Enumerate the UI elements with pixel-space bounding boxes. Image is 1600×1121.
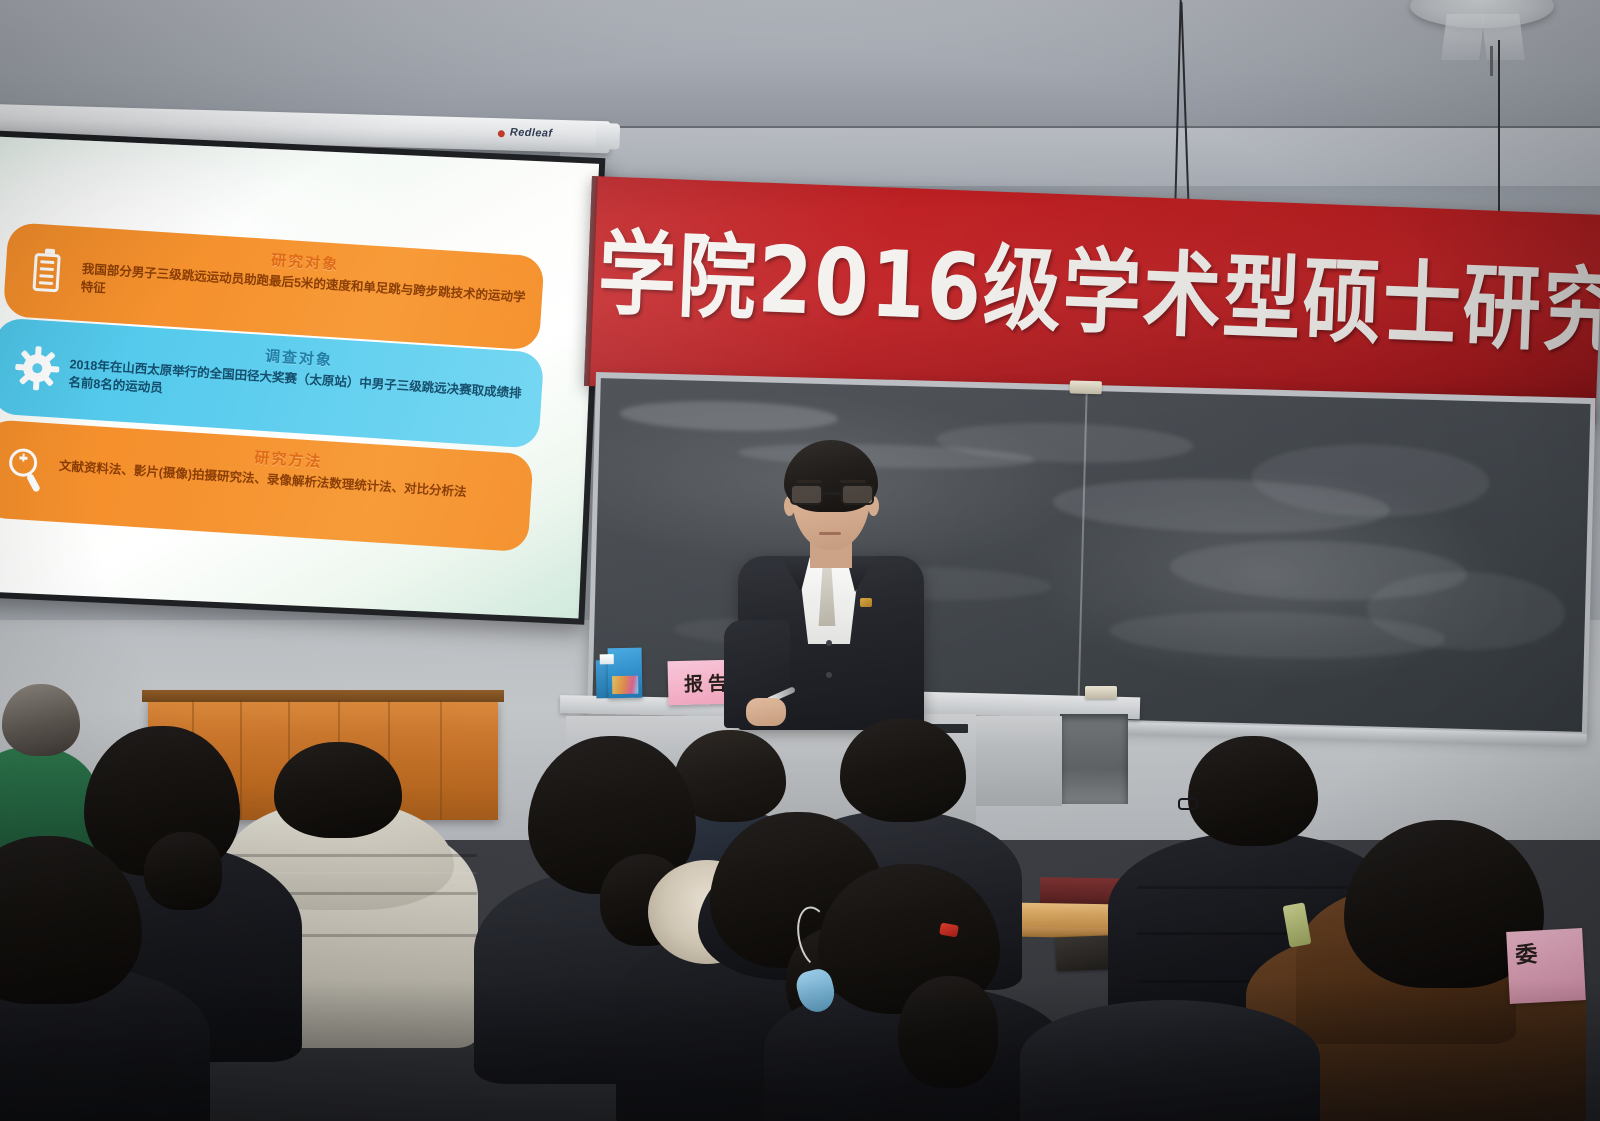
audience-member bbox=[0, 836, 190, 1121]
presenter-hand bbox=[746, 698, 786, 726]
banner-title-text: 学院2016级学术型硕士研究生开题报告会 bbox=[596, 228, 1600, 359]
ceiling-fan-icon bbox=[1392, 0, 1572, 60]
lamp-cable bbox=[1498, 40, 1500, 225]
chalk-eraser bbox=[1070, 380, 1102, 394]
brand-dot-icon bbox=[498, 130, 505, 137]
magnifier-plus-icon bbox=[1, 445, 48, 496]
gear-icon bbox=[12, 343, 59, 394]
lapel-pin-icon bbox=[860, 598, 872, 607]
classroom-scene: Redleaf 研究对象 我国部分男子三级跳远运动员助跑最后5米的速度和单足跳与… bbox=[0, 0, 1600, 1121]
glasses-icon bbox=[1178, 798, 1198, 810]
projector-screen-brand: Redleaf bbox=[510, 127, 553, 140]
audience-member bbox=[792, 864, 1042, 1121]
name-card-text: 委 bbox=[1514, 936, 1538, 969]
projection-screen: 研究对象 我国部分男子三级跳远运动员助跑最后5米的速度和单足跳与跨步跳技术的运动… bbox=[0, 130, 605, 625]
presentation-slide: 研究对象 我国部分男子三级跳远运动员助跑最后5米的速度和单足跳与跨步跳技术的运动… bbox=[0, 136, 599, 618]
podium-open-compartment bbox=[1060, 714, 1128, 804]
name-card-right: 委 bbox=[1506, 928, 1586, 1004]
glasses-icon bbox=[790, 484, 874, 506]
tissue-box bbox=[596, 648, 643, 699]
audience-member bbox=[1020, 980, 1320, 1121]
presenter-figure bbox=[718, 440, 948, 730]
battery-icon bbox=[24, 246, 71, 297]
wall-upper-band bbox=[560, 128, 1600, 186]
chalk-eraser bbox=[1085, 686, 1117, 699]
